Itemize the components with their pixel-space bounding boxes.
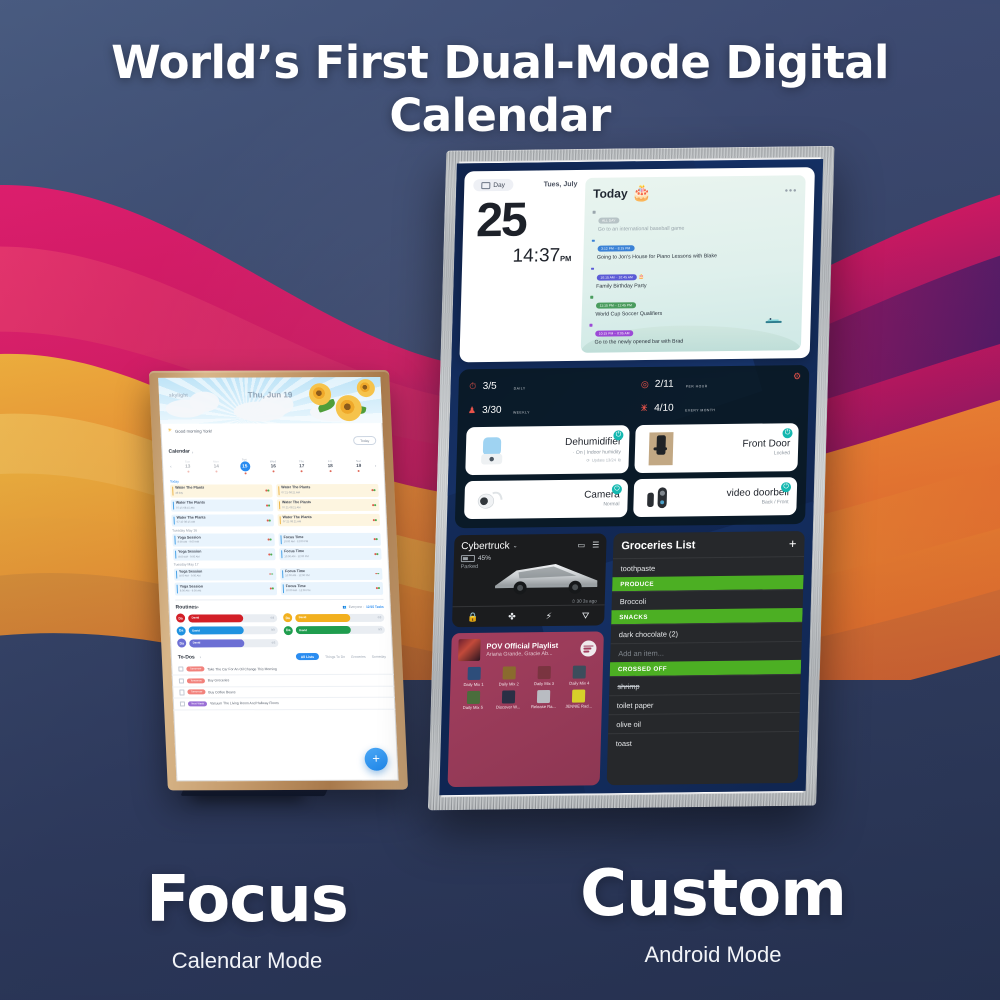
event-body: 11:15 PM – 11:45 PMWorld Cup Soccer Qual… <box>595 293 662 319</box>
event-time: 10:00 AM - 12:00 PM <box>284 555 377 559</box>
vehicle-widget[interactable]: Cybertruck ⌄ ▭ ☰ 45% P <box>452 533 607 627</box>
event-avatars <box>268 539 272 541</box>
todos-list: TomorrowTake The Car For An Oil Change T… <box>171 663 395 710</box>
event-avatars <box>376 588 380 590</box>
event-time: 8:00 AM - 9:00 AM <box>180 589 273 593</box>
event-bullet <box>590 296 593 299</box>
event-dot <box>329 470 331 472</box>
stats-column-left: ⏱3/5DAILY♟3/30WEEKLY <box>467 375 628 419</box>
todos-tab[interactable]: All Lists <box>296 653 320 660</box>
grocery-item[interactable]: Broccoli <box>612 589 804 610</box>
todo-text: Buy Groceries <box>208 678 230 682</box>
avatar: Da <box>177 639 186 648</box>
stat-row: ♟3/30WEEKLY <box>467 399 628 419</box>
fire-icon: ◎ <box>640 379 650 390</box>
sunflower-icon <box>309 383 332 405</box>
greeting-row: ☀ Good morning York! <box>160 423 383 437</box>
bottom-row: Cybertruck ⌄ ▭ ☰ 45% P <box>448 531 805 787</box>
promo-stage: World’s First Dual-Mode Digital Calendar… <box>0 0 1000 1000</box>
event-title: Go to the newly opened bar with Brad <box>594 340 683 347</box>
event-title: Go to an international baseball game <box>598 227 685 234</box>
todo-row[interactable]: TomorrowBuy Coffee Beans <box>172 686 395 698</box>
stat-value: 4/10 <box>654 402 680 413</box>
device-status: · On | Indoor humidity <box>514 449 621 456</box>
music-tile[interactable]: Daily Mix 2 <box>493 666 526 686</box>
routine-count: 0/3 <box>271 616 275 619</box>
todo-tag: Tomorrow <box>187 678 205 683</box>
routine-row[interactable]: DaDavid0/3 <box>283 613 384 622</box>
week-day-cell[interactable]: Sat19 <box>344 460 373 472</box>
event-avatars <box>266 505 270 507</box>
device-grid: ⏻Dehumidifier· On | Indoor humidity⟳Upda… <box>464 423 799 519</box>
todo-checkbox[interactable] <box>179 678 185 683</box>
event-avatars <box>371 490 375 492</box>
music-widget[interactable]: POV Official Playlist Ariana Grande, Gra… <box>448 631 604 787</box>
event-title: Going to Jon's House for Piano Lessons w… <box>597 255 717 262</box>
todos-header: To-Dos › All ListsThings To DoGroceriesS… <box>170 647 393 664</box>
music-tile[interactable]: JENNIE Rad... <box>562 689 595 709</box>
power-toggle-icon[interactable]: ⏻ <box>613 430 623 440</box>
right-mode-subtitle: Android Mode <box>552 942 874 968</box>
day-view-chip[interactable]: Day <box>473 179 513 192</box>
event-time-chip: 3:12 PM – 8:15 PM <box>597 246 634 252</box>
event-time: 07:15-08:15 AM <box>176 506 269 510</box>
music-tile-label: Daily Mix 5 <box>457 705 489 710</box>
todos-tab[interactable]: Groceries <box>351 655 366 659</box>
week-day-number: 14 <box>202 464 231 470</box>
week-day-cell[interactable]: Tue15 <box>230 458 259 475</box>
playlist-title: POV Official Playlist <box>486 641 558 651</box>
device-info: CameraNormal <box>508 489 620 509</box>
music-tile[interactable]: Daily Mix 5 <box>457 690 490 710</box>
share-icon: ⧉ <box>618 457 621 462</box>
calendar-event[interactable]: Water The Plants07:15-08:15 AM <box>171 499 274 512</box>
next-week-button[interactable]: › <box>373 463 379 468</box>
calendar-widget: Day Tues, July 25 14:37PM Today 🎂 <box>459 167 815 362</box>
routine-progress-fill: David <box>188 627 244 635</box>
smart-lock-icon <box>643 431 680 467</box>
music-tile-label: Discover W... <box>492 704 524 709</box>
today-event[interactable]: 3:12 PM – 8:15 PMGoing to Jon's House fo… <box>591 235 796 262</box>
routine-progress: David0/3 <box>295 614 385 622</box>
fan-icon[interactable]: ✤ <box>508 611 516 622</box>
todo-row[interactable]: TomorrowBuy Groceries <box>172 675 395 687</box>
device-name: Camera <box>513 489 620 501</box>
routine-row[interactable]: DaDavid0/3 <box>284 626 385 635</box>
todo-checkbox[interactable] <box>178 666 184 671</box>
event-avatars <box>372 504 376 506</box>
routine-row[interactable]: DaDavid0/3 <box>176 614 277 623</box>
event-dot <box>358 470 360 472</box>
left-mode-caption: Focus Calendar Mode <box>86 868 408 974</box>
week-day-number: 19 <box>344 463 373 469</box>
refresh-icon: ⟳ <box>586 457 590 462</box>
week-day-number: 15 <box>230 461 259 471</box>
chevron-down-icon[interactable]: ⌄ <box>513 543 518 550</box>
security-camera-icon <box>472 487 509 513</box>
event-dot <box>187 470 189 472</box>
todo-text: Take The Car For An Oil Change This Morn… <box>207 667 277 671</box>
today-event[interactable]: 11:15 PM – 11:45 PMWorld Cup Soccer Qual… <box>590 291 795 318</box>
week-day-number: 18 <box>316 463 345 469</box>
gear-icon[interactable]: ⚙ <box>793 372 801 381</box>
todo-text: Buy Coffee Beans <box>208 690 235 694</box>
calendar-icon <box>481 182 490 189</box>
event-time: 07:21-08:21 AM <box>282 506 375 510</box>
event-title: Family Birthday Party <box>596 284 647 290</box>
todo-tag: Next Week <box>188 701 207 706</box>
device-status: Normal <box>512 502 619 509</box>
right-tablet-device: Day Tues, July 25 14:37PM Today 🎂 <box>428 146 835 810</box>
stat-meter: EVERY MONTH <box>685 397 800 416</box>
avatar: Da <box>176 626 185 635</box>
event-body: 3:12 PM – 8:15 PMGoing to Jon's House fo… <box>597 236 718 262</box>
todo-text: Vacuum The Living Room And Hallway Floor… <box>210 701 279 705</box>
routine-progress-fill: David <box>295 614 351 622</box>
lock-icon[interactable]: 🔒 <box>467 611 479 622</box>
device-image <box>641 485 678 511</box>
device-info: Front DoorLocked <box>679 438 791 458</box>
battery-percent: 45% <box>478 555 491 562</box>
routine-row[interactable]: DaDavid0/3 <box>177 639 278 648</box>
event-body: 10:15 AM – 10:45 AM 🎂Family Birthday Par… <box>596 265 647 290</box>
am-pm-label: PM <box>560 254 572 263</box>
music-tile[interactable]: Release Ra... <box>527 689 560 709</box>
routine-progress-fill: David <box>189 639 245 647</box>
calendar-event[interactable]: Water The Plants07:21-08:21 AM <box>276 484 379 497</box>
todo-tag: Tomorrow <box>187 667 205 672</box>
device-info: Dehumidifier· On | Indoor humidity⟳Updat… <box>510 437 622 464</box>
today-event[interactable]: ALL DAYGo to an international baseball g… <box>592 206 797 233</box>
routines-title[interactable]: Routines› <box>175 605 198 611</box>
routine-label: David <box>295 616 307 620</box>
device-card[interactable]: ⏻video doorbellBack / Front <box>633 477 797 517</box>
left-mode-subtitle: Calendar Mode <box>86 948 408 974</box>
music-tile-label: Daily Mix 3 <box>528 680 560 685</box>
event-grid: Yoga Session8:00 AM - 9:00 AMYoga Sessio… <box>165 533 388 561</box>
grocery-item[interactable]: toothpaste <box>612 556 804 577</box>
week-day-number: 17 <box>287 463 316 469</box>
event-body: 10:15 PM – 8:05 AMGo to the newly opened… <box>594 321 683 347</box>
groceries-header: Groceries List + <box>613 531 805 558</box>
trunk-icon[interactable]: ⛛ <box>582 610 590 621</box>
date-label: Tues, July <box>544 181 578 188</box>
stat-label: EVERY MONTH <box>685 408 715 412</box>
grocery-item[interactable]: toast <box>608 731 800 752</box>
bottom-left-column: Cybertruck ⌄ ▭ ☰ 45% P <box>448 533 607 787</box>
event-grid: Yoga Session8:00 AM - 9:00 AMYoga Sessio… <box>167 567 390 595</box>
today-header: Today 🎂 ••• <box>593 181 798 203</box>
birthday-cake-icon: 🎂 <box>637 274 645 280</box>
more-options-icon[interactable]: ••• <box>785 190 798 194</box>
calendar-event[interactable]: Focus Time10:00 AM - 12:00 PM <box>280 567 383 580</box>
stat-meter: WEEKLY <box>513 399 628 418</box>
stats-row: ⏱3/5DAILY♟3/30WEEKLY ◎2/11PER HOUR🜹4/10E… <box>467 373 800 419</box>
routine-progress: David0/3 <box>295 626 385 634</box>
chevron-right-icon: › <box>200 655 202 660</box>
event-time-chip: 10:15 AM – 10:45 AM <box>596 274 637 280</box>
avatar: Da <box>283 614 292 623</box>
routines-summary: 👥 Everyone - 12/15 Tasks <box>343 605 384 609</box>
people-icon: 👥 <box>343 605 347 609</box>
event-avatars <box>268 554 272 556</box>
routine-label: David <box>188 617 200 621</box>
device-card[interactable]: ⏻Front DoorLocked <box>634 423 798 473</box>
calendar-event[interactable]: Focus Time10:00 AM - 12:00 PM <box>279 548 382 561</box>
alarm-icon: ⏱ <box>468 381 478 392</box>
groceries-widget: Groceries List + toothpastePRODUCEBrocco… <box>607 531 805 785</box>
music-text: POV Official Playlist Ariana Grande, Gra… <box>486 641 558 658</box>
week-day-cell[interactable]: Fri18 <box>316 460 345 472</box>
vehicle-action-bar[interactable]: 🔒 ✤ ⚡ ⛛ <box>452 604 605 627</box>
calendar-event[interactable]: Yoga Session8:00 AM - 9:00 AM <box>174 568 277 581</box>
event-bullet <box>592 239 595 242</box>
greeting-text: Good morning York! <box>175 428 212 433</box>
event-column: Water The Plantsall dayWater The Plants0… <box>170 485 274 527</box>
music-tile-label: Daily Mix 1 <box>457 681 489 686</box>
hero-date: Thu, Jun 19 <box>248 390 293 400</box>
today-events-panel: Today 🎂 ••• ALL DAYGo to an internationa… <box>581 175 806 353</box>
event-time: 07:21-08:21 AM <box>281 491 374 495</box>
hero-banner: skylight Thu, Jun 19 <box>158 377 382 424</box>
calendar-event[interactable]: Water The Plants07:21-08:21 AM <box>277 514 380 527</box>
routine-count: 0/3 <box>271 629 275 632</box>
stat-value: 2/11 <box>655 378 681 389</box>
left-tablet-screen: skylight Thu, Jun 19 ☀ Good morning York… <box>158 377 399 781</box>
event-body: ALL DAYGo to an international baseball g… <box>598 208 685 234</box>
routine-count: 0/3 <box>272 641 276 644</box>
vehicle-header-icons[interactable]: ▭ ☰ <box>577 541 599 550</box>
device-image <box>473 433 510 469</box>
trophy-icon: ♟ <box>467 405 477 416</box>
event-dot <box>215 470 217 472</box>
day-number: 25 <box>476 197 577 244</box>
event-time: all day <box>175 491 268 495</box>
music-tile-label: JENNIE Rad... <box>562 703 594 708</box>
event-column: Yoga Session8:00 AM - 9:00 AMYoga Sessio… <box>172 534 275 561</box>
device-update: ⟳Update 13/24⧉ <box>514 457 621 463</box>
device-name: Dehumidifier <box>514 437 621 449</box>
routine-label: David <box>189 642 201 646</box>
device-card[interactable]: ⏻CameraNormal <box>464 479 628 519</box>
calendar-section-header[interactable]: Calendar › <box>161 445 384 457</box>
routines-column-right: DaDavid0/3DaDavid0/3 <box>283 613 386 647</box>
music-tile-art <box>573 666 586 679</box>
music-tile-art <box>466 690 479 703</box>
event-bullet <box>593 211 596 214</box>
routine-count: 0/3 <box>378 629 382 632</box>
menu-icon[interactable]: ☰ <box>592 541 599 550</box>
left-mode-title: Focus <box>86 868 408 932</box>
routine-progress: David0/3 <box>187 614 277 622</box>
calendar-event[interactable]: Water The Plantsall day <box>170 485 273 498</box>
clock-time: 14:37PM <box>471 245 576 268</box>
power-toggle-icon[interactable]: ⏻ <box>782 428 792 438</box>
music-tile-art <box>502 666 515 679</box>
device-card[interactable]: ⏻Dehumidifier· On | Indoor humidity⟳Upda… <box>465 425 629 475</box>
todo-tag: Tomorrow <box>188 690 206 695</box>
music-tile[interactable]: Daily Mix 1 <box>457 667 490 687</box>
vehicle-header: Cybertruck ⌄ ▭ ☰ <box>461 540 599 553</box>
today-button[interactable]: Today <box>353 436 376 445</box>
date-header-row: Day Tues, July <box>473 178 577 191</box>
todo-checkbox[interactable] <box>180 701 186 706</box>
todos-tab-bar[interactable]: All ListsThings To DoGroceriesSomeday <box>296 653 387 660</box>
todos-tab[interactable]: Things To Do <box>325 655 345 659</box>
humidifier-icon <box>473 433 510 469</box>
event-avatars <box>373 519 377 521</box>
calendar-event[interactable]: Water The Plants07:21-08:21 AM <box>277 499 380 512</box>
event-time: 07:15-08:15 AM <box>177 521 270 525</box>
routine-progress-fill: David <box>295 626 351 634</box>
charge-icon[interactable]: ⚡ <box>546 611 553 622</box>
todos-title: To-Dos <box>178 654 195 660</box>
event-time-chip: 11:15 PM – 11:45 PM <box>596 302 636 308</box>
routine-progress: David0/3 <box>189 639 279 647</box>
grocery-item[interactable]: toilet paper <box>609 693 801 714</box>
video-doorbell-icon <box>641 485 678 511</box>
calendar-event[interactable]: Focus Time10:00 AM - 12:00 PM <box>278 533 381 546</box>
chevron-right-icon: › <box>192 450 194 455</box>
grocery-item[interactable]: olive oil <box>608 712 800 733</box>
todo-row[interactable]: Next WeekVacuum The Living Room And Hall… <box>173 698 396 710</box>
event-time: 10:00 AM - 12:00 PM <box>284 540 377 544</box>
add-task-fab[interactable]: + <box>364 748 388 771</box>
grocery-item[interactable]: dark chocolate (2) <box>611 622 803 643</box>
music-tile-art <box>538 666 551 679</box>
day-view-label: Day <box>493 181 505 188</box>
device-image <box>643 431 680 467</box>
calendar-event[interactable]: Focus Time10:00 AM - 12:00 PM <box>281 582 384 595</box>
message-icon[interactable]: ▭ <box>577 541 585 550</box>
sunflower-icon <box>335 395 362 421</box>
routine-count: 0/3 <box>378 616 382 619</box>
event-dot <box>301 470 303 472</box>
device-status: Locked <box>683 451 790 458</box>
todos-tab[interactable]: Someday <box>372 655 387 659</box>
today-event[interactable]: 10:15 PM – 8:05 AMGo to the newly opened… <box>589 320 794 347</box>
calendar-event[interactable]: Yoga Session8:00 AM - 9:00 AM <box>173 548 276 561</box>
cybertruck-illustration <box>491 555 602 598</box>
chevron-right-icon: › <box>197 605 199 611</box>
stat-label: PER HOUR <box>686 384 708 388</box>
week-day-number: 16 <box>259 463 288 469</box>
today-event[interactable]: 10:15 AM – 10:45 AM 🎂Family Birthday Par… <box>590 263 795 290</box>
music-tile-label: Daily Mix 4 <box>563 680 595 685</box>
week-day-cell[interactable]: Wed16 <box>259 460 288 472</box>
routine-progress: David0/3 <box>188 627 278 635</box>
spotify-icon[interactable] <box>580 640 596 656</box>
routine-progress-fill: David <box>187 614 243 622</box>
routines-column-left: DaDavid0/3DaDavid0/3DaDavid0/3 <box>176 614 279 648</box>
event-time-chip: 10:15 PM – 8:05 AM <box>595 331 634 337</box>
calendar-event[interactable]: Water The Plants07:15-08:15 AM <box>171 514 274 527</box>
event-time: 8:00 AM - 9:00 AM <box>179 574 272 578</box>
avatar: Da <box>284 626 293 635</box>
calendar-event-groups: TodayWater The Plantsall dayWater The Pl… <box>163 477 391 595</box>
music-tile-label: Daily Mix 2 <box>493 681 525 686</box>
calendar-event[interactable]: Yoga Session8:00 AM - 9:00 AM <box>172 534 275 547</box>
routines-header: Routines› 👥 Everyone - 12/15 Tasks <box>168 599 391 614</box>
cup-icon: 🜹 <box>639 399 650 417</box>
event-time: 8:00 AM - 9:00 AM <box>178 540 271 544</box>
birthday-cake-icon: 🎂 <box>631 183 651 203</box>
routine-label: David <box>295 629 307 633</box>
playlist-artists: Ariana Grande, Gracie Ab... <box>486 651 558 658</box>
event-bullet <box>591 268 594 271</box>
right-mode-title: Custom <box>552 862 874 926</box>
cloud-shape <box>189 392 220 412</box>
event-time: 10:00 AM - 12:00 PM <box>285 574 378 578</box>
stat-meter: DAILY <box>513 375 628 394</box>
left-tablet-device: skylight Thu, Jun 19 ☀ Good morning York… <box>149 370 408 790</box>
music-header: POV Official Playlist Ariana Grande, Gra… <box>458 637 597 661</box>
music-tile[interactable]: Daily Mix 3 <box>528 666 561 686</box>
event-column: Yoga Session8:00 AM - 9:00 AMYoga Sessio… <box>174 568 277 595</box>
todo-row[interactable]: TomorrowTake The Car For An Oil Change T… <box>171 663 394 675</box>
routine-label: David <box>188 629 200 633</box>
todo-checkbox[interactable] <box>179 690 185 695</box>
stat-label: WEEKLY <box>513 410 530 414</box>
event-time: 8:00 AM - 9:00 AM <box>178 555 271 559</box>
music-tile-grid[interactable]: Daily Mix 1Daily Mix 2Daily Mix 3Daily M… <box>457 665 596 710</box>
device-image <box>472 487 509 513</box>
device-info: video doorbellBack / Front <box>677 487 789 507</box>
device-name: video doorbell <box>682 487 789 499</box>
event-avatars <box>374 539 378 541</box>
stat-label: DAILY <box>514 387 526 391</box>
event-column: Water The Plants07:21-08:21 AMWater The … <box>276 484 380 526</box>
music-tile-art <box>572 689 585 702</box>
battery-icon <box>461 555 475 562</box>
week-strip[interactable]: ‹ Sun13Mon14Tue15Wed16Thu17Fri18Sat19› <box>162 456 385 477</box>
sunflower-icon <box>356 379 375 397</box>
stat-value: 3/5 <box>483 380 509 391</box>
power-toggle-icon[interactable]: ⏻ <box>612 484 622 494</box>
week-day-cell[interactable]: Sun13 <box>173 460 202 472</box>
calendar-event[interactable]: Yoga Session8:00 AM - 9:00 AM <box>174 583 277 596</box>
groceries-title: Groceries List <box>621 539 695 552</box>
event-dot <box>244 472 246 474</box>
event-avatars <box>265 490 269 492</box>
add-item-button[interactable]: + <box>789 539 797 549</box>
event-column: Focus Time10:00 AM - 12:00 PMFocus Time1… <box>280 567 383 594</box>
smart-home-panel: ⚙ ⏱3/5DAILY♟3/30WEEKLY ◎2/11PER HOUR🜹4/1… <box>455 365 810 528</box>
groceries-list: toothpastePRODUCEBroccoliSNACKSdark choc… <box>608 556 805 752</box>
routine-row[interactable]: DaDavid0/3 <box>176 626 277 635</box>
music-tile[interactable]: Discover W... <box>492 690 525 710</box>
avatar: Da <box>176 614 185 623</box>
add-item-input[interactable]: Add an item... <box>610 641 802 662</box>
event-time-chip: ALL DAY <box>598 218 620 224</box>
music-tile-art <box>467 667 480 680</box>
event-column: Focus Time10:00 AM - 12:00 PMFocus Time1… <box>278 533 381 560</box>
music-tile[interactable]: Daily Mix 4 <box>563 665 596 685</box>
today-event-list: ALL DAYGo to an international baseball g… <box>589 206 797 347</box>
week-day-cell[interactable]: Thu17 <box>287 460 316 472</box>
vehicle-updated: ⏱ 30 3s ago <box>572 599 597 604</box>
power-toggle-icon[interactable]: ⏻ <box>781 482 791 492</box>
page-title: World’s First Dual-Mode Digital Calendar <box>0 36 1000 142</box>
week-day-cell[interactable]: Mon14 <box>202 460 231 472</box>
event-dot <box>272 470 274 472</box>
event-avatars <box>269 573 273 575</box>
event-grid: Water The Plantsall dayWater The Plants0… <box>163 484 387 527</box>
grocery-item[interactable]: shrimp <box>609 674 801 695</box>
date-block: Day Tues, July 25 14:37PM <box>469 178 578 354</box>
right-tablet-screen: Day Tues, July 25 14:37PM Today 🎂 <box>439 159 823 795</box>
stat-meter: PER HOUR <box>686 373 801 392</box>
